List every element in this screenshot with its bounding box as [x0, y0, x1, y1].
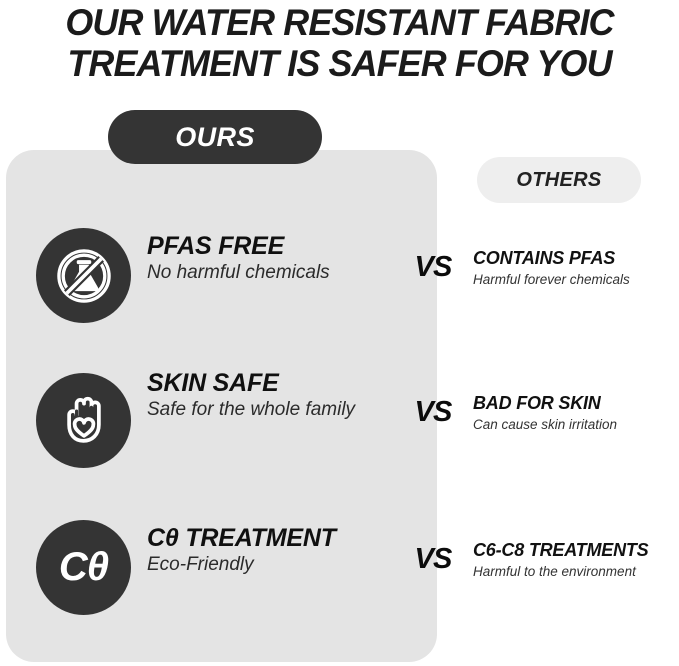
page-title-line-1: OUR WATER RESISTANT FABRIC [10, 2, 669, 43]
ours-row-text: Cθ TREATMENT Eco-Friendly [147, 524, 397, 576]
page-title-line-2: TREATMENT IS SAFER FOR YOU [10, 43, 669, 84]
c-zero-treatment-icon: Cθ [36, 520, 131, 615]
ours-row-subtitle: Safe for the whole family [147, 398, 397, 421]
comparison-row: SKIN SAFE Safe for the whole family VS B… [0, 361, 679, 481]
others-row-text: CONTAINS PFAS Harmful forever chemicals [473, 248, 679, 288]
others-row-title: CONTAINS PFAS [473, 248, 679, 269]
vs-separator: VS [404, 544, 462, 574]
vs-separator: VS [404, 397, 462, 427]
others-row-title: BAD FOR SKIN [473, 393, 679, 414]
others-row-text: C6-C8 TREATMENTS Harmful to the environm… [473, 540, 679, 580]
c-zero-treatment-icon-label: Cθ [36, 520, 131, 615]
badge-others: OTHERS [477, 157, 641, 203]
others-row-subtitle: Can cause skin irritation [473, 416, 679, 433]
badge-others-label: OTHERS [516, 169, 601, 192]
comparison-row: PFAS FREE No harmful chemicals VS CONTAI… [0, 216, 679, 336]
vs-separator: VS [404, 252, 462, 282]
ours-row-title: SKIN SAFE [147, 369, 397, 397]
infographic-root: OUR WATER RESISTANT FABRIC TREATMENT IS … [0, 0, 679, 666]
badge-ours-label: OURS [175, 122, 255, 153]
no-chemicals-flask-icon [36, 228, 131, 323]
others-row-subtitle: Harmful forever chemicals [473, 271, 679, 288]
hand-heart-skin-safe-icon [36, 373, 131, 468]
ours-row-title: PFAS FREE [147, 232, 397, 260]
ours-row-subtitle: Eco-Friendly [147, 553, 397, 576]
ours-row-title: Cθ TREATMENT [147, 524, 397, 552]
others-row-subtitle: Harmful to the environment [473, 563, 679, 580]
ours-row-text: SKIN SAFE Safe for the whole family [147, 369, 397, 421]
comparison-row: Cθ Cθ TREATMENT Eco-Friendly VS C6-C8 TR… [0, 508, 679, 628]
page-title: OUR WATER RESISTANT FABRIC TREATMENT IS … [10, 2, 669, 84]
ours-row-subtitle: No harmful chemicals [147, 261, 397, 284]
others-row-title: C6-C8 TREATMENTS [473, 540, 679, 561]
badge-ours: OURS [108, 110, 322, 164]
others-row-text: BAD FOR SKIN Can cause skin irritation [473, 393, 679, 433]
ours-row-text: PFAS FREE No harmful chemicals [147, 232, 397, 284]
